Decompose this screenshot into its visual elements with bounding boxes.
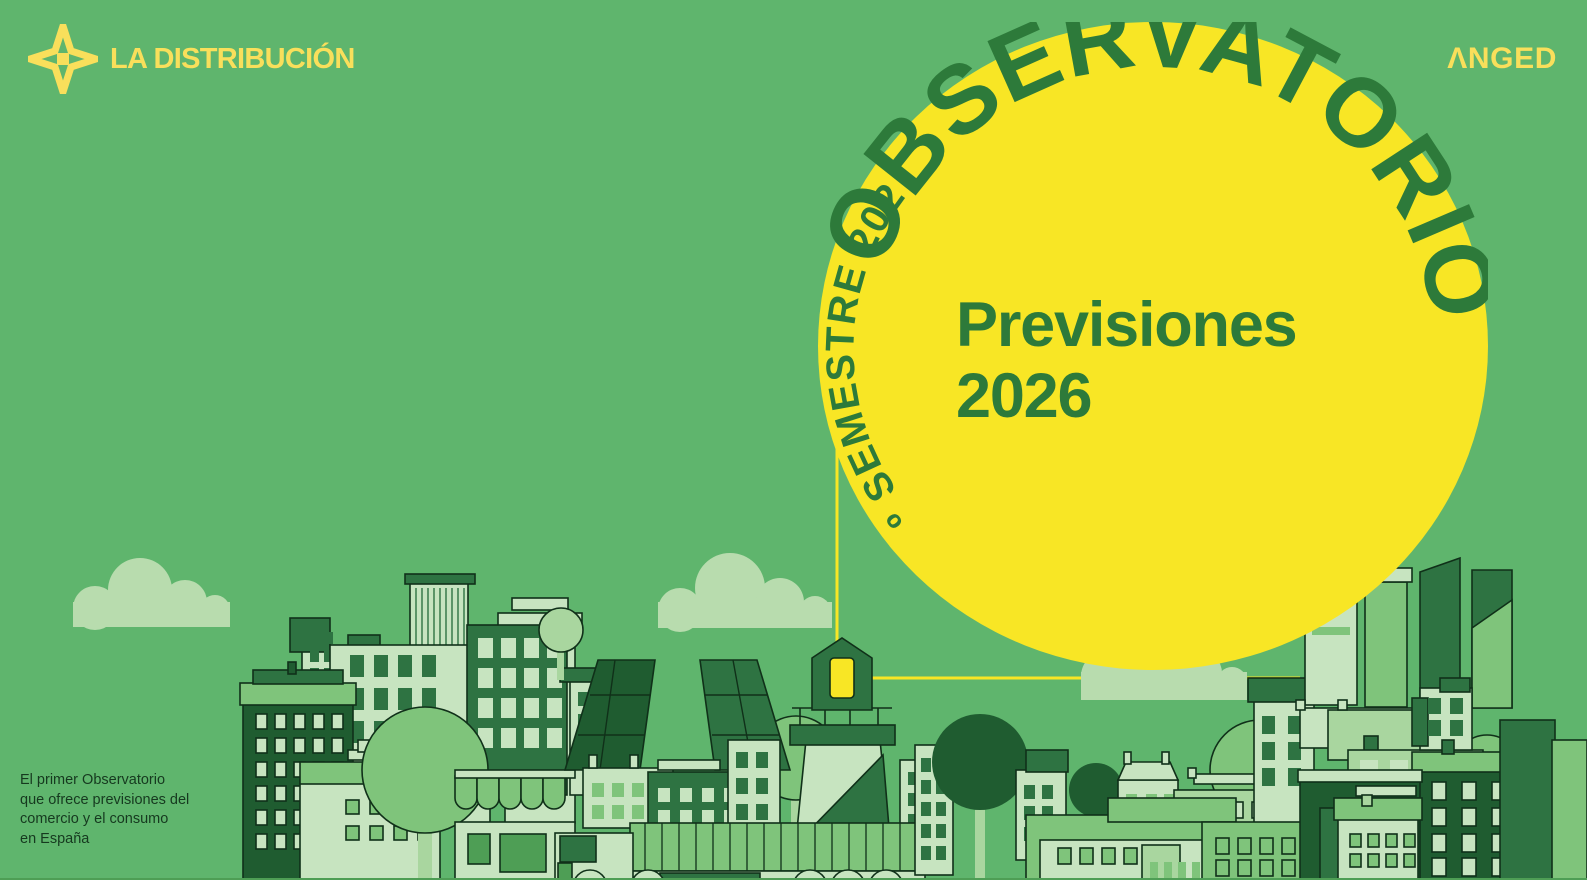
poster-canvas: LA DISTRIBUCIÓN ΛNGED .o { stroke:#10301… <box>0 0 1587 880</box>
tagline-text: El primer Observatorio que ofrece previs… <box>20 771 250 849</box>
badge-center-title: Previsiones 2026 <box>956 290 1297 431</box>
building-mint-bottom-right <box>1334 786 1422 880</box>
cloud-group-left <box>73 558 230 630</box>
four-point-star-icon <box>28 24 98 94</box>
building-far-right-sliver <box>1500 720 1587 880</box>
anged-logo[interactable]: ΛNGED <box>1447 44 1557 74</box>
building-below-kio-right <box>728 740 780 830</box>
anged-lambda-letter: Λ <box>1447 44 1468 74</box>
badge-ring-semestre: 2º SEMESTRE 2025 <box>818 22 922 536</box>
brand-logo[interactable]: LA DISTRIBUCIÓN <box>28 24 355 94</box>
observatory-badge[interactable]: OBSERVATORIO 2º SEMESTRE 2025 Previsione… <box>818 22 1488 670</box>
anged-logo-rest: NGED <box>1468 44 1557 74</box>
truck-with-trailer <box>555 823 925 880</box>
cloud-group-center <box>658 553 832 632</box>
logo-text: LA DISTRIBUCIÓN <box>110 45 355 74</box>
badge-ring-observatorio: OBSERVATORIO <box>818 22 1488 329</box>
